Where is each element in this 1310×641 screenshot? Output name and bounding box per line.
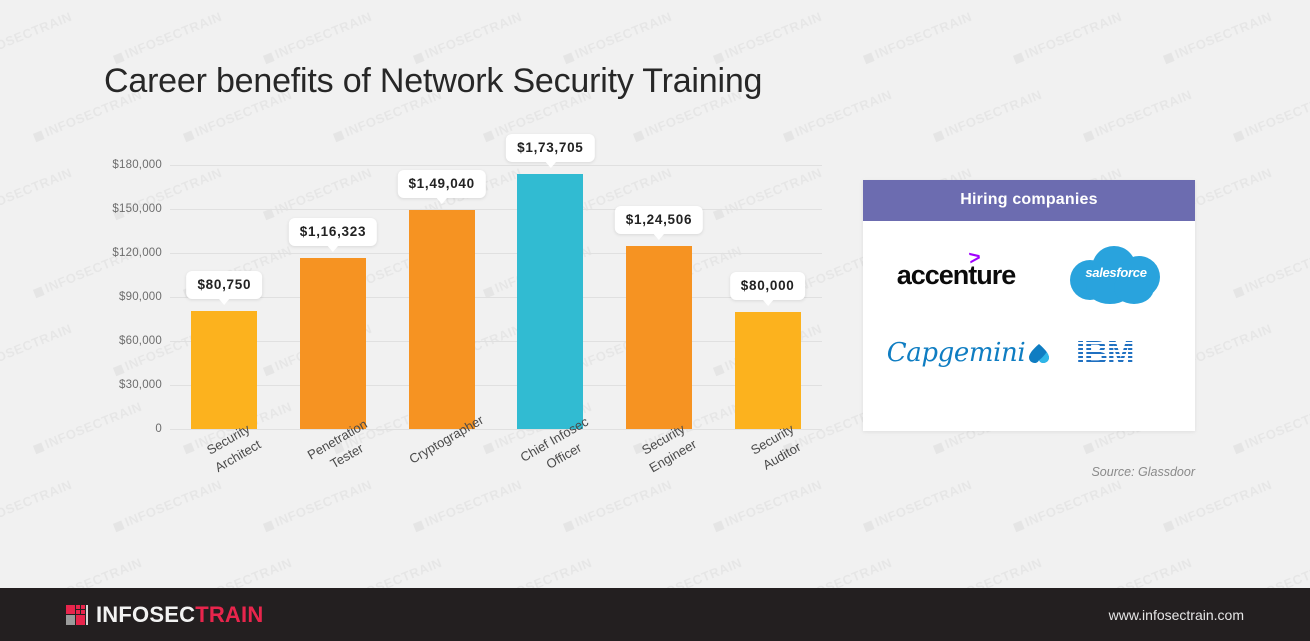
bar-value-label: $1,16,323 — [289, 218, 377, 246]
watermark-text: INFOSECTRAIN — [931, 555, 1044, 588]
y-axis-tick-label: $120,000 — [112, 247, 162, 259]
watermark-text: INFOSECTRAIN — [1011, 9, 1124, 66]
bar-value-label: $80,750 — [186, 271, 262, 299]
infosectrain-grid-icon — [66, 605, 88, 625]
accenture-wordmark: accenture — [897, 260, 1016, 290]
logo-ibm: IBM — [1041, 317, 1191, 389]
hiring-companies-header: Hiring companies — [863, 180, 1195, 221]
bar-chart: $180,000$150,000$120,000$90,000$60,000$3… — [0, 0, 860, 560]
bar-slot: $80,000 — [713, 165, 822, 429]
bar-slot: $1,24,506 — [605, 165, 714, 429]
watermark-text: INFOSECTRAIN — [1231, 399, 1310, 456]
watermark-text: INFOSECTRAIN — [1161, 477, 1274, 534]
watermark-text: INFOSECTRAIN — [1231, 87, 1310, 144]
bar-slot: $1,73,705 — [496, 165, 605, 429]
logo-accenture: accenture > — [871, 239, 1041, 311]
bar[interactable] — [300, 258, 366, 429]
logo-salesforce: salesforce — [1041, 239, 1191, 311]
hiring-companies-body: accenture > salesforce Capgemini — [863, 221, 1195, 431]
accenture-chevron-icon: > — [967, 246, 982, 270]
watermark-text: INFOSECTRAIN — [861, 9, 974, 66]
x-axis: Security ArchitectPenetration TesterCryp… — [170, 432, 822, 542]
y-axis-tick-label: $180,000 — [112, 159, 162, 171]
brand-name-secondary: TRAIN — [195, 602, 263, 628]
y-axis-tick-label: $90,000 — [119, 291, 162, 303]
bar[interactable] — [409, 210, 475, 429]
watermark-text: INFOSECTRAIN — [931, 87, 1044, 144]
bar-slot: $80,750 — [170, 165, 279, 429]
bar[interactable] — [735, 312, 801, 429]
brand-logo[interactable]: INFOSECTRAIN — [66, 602, 263, 628]
bar[interactable] — [626, 246, 692, 429]
bar-value-label: $80,000 — [730, 272, 806, 300]
hiring-companies-panel: Hiring companies accenture > salesforce … — [863, 180, 1195, 431]
brand-name-primary: INFOSEC — [96, 602, 195, 628]
bar-slot: $1,16,323 — [279, 165, 388, 429]
bar-slot: $1,49,040 — [387, 165, 496, 429]
bar-value-label: $1,24,506 — [615, 206, 703, 234]
y-axis-tick-label: 0 — [155, 423, 162, 435]
bar-value-label: $1,49,040 — [397, 170, 485, 198]
plot-area: $80,750$1,16,323$1,49,040$1,73,705$1,24,… — [170, 165, 822, 429]
source-note: Source: Glassdoor — [863, 465, 1195, 479]
bar-series: $80,750$1,16,323$1,49,040$1,73,705$1,24,… — [170, 165, 822, 429]
bar-value-label: $1,73,705 — [506, 134, 594, 162]
salesforce-cloud-icon: salesforce — [1070, 244, 1162, 306]
watermark-text: INFOSECTRAIN — [1081, 87, 1194, 144]
bar[interactable] — [517, 174, 583, 429]
bar[interactable] — [191, 311, 257, 429]
watermark-text: INFOSECTRAIN — [1011, 477, 1124, 534]
y-axis-tick-label: $150,000 — [112, 203, 162, 215]
salesforce-wordmark: salesforce — [1070, 265, 1162, 280]
footer-url[interactable]: www.infosectrain.com — [1109, 607, 1244, 623]
capgemini-wordmark: Capgemini — [887, 338, 1026, 368]
watermark-text: INFOSECTRAIN — [1231, 243, 1310, 300]
watermark-text: INFOSECTRAIN — [1231, 555, 1310, 588]
ibm-wordmark: IBM — [1076, 336, 1156, 370]
watermark-text: INFOSECTRAIN — [1161, 9, 1274, 66]
watermark-text: INFOSECTRAIN — [861, 477, 974, 534]
logo-capgemini: Capgemini — [871, 317, 1041, 389]
watermark-text: INFOSECTRAIN — [1081, 555, 1194, 588]
y-axis-tick-label: $60,000 — [119, 335, 162, 347]
y-axis-tick-label: $30,000 — [119, 379, 162, 391]
footer: INFOSECTRAIN www.infosectrain.com — [0, 588, 1310, 641]
y-axis: $180,000$150,000$120,000$90,000$60,000$3… — [0, 165, 168, 429]
